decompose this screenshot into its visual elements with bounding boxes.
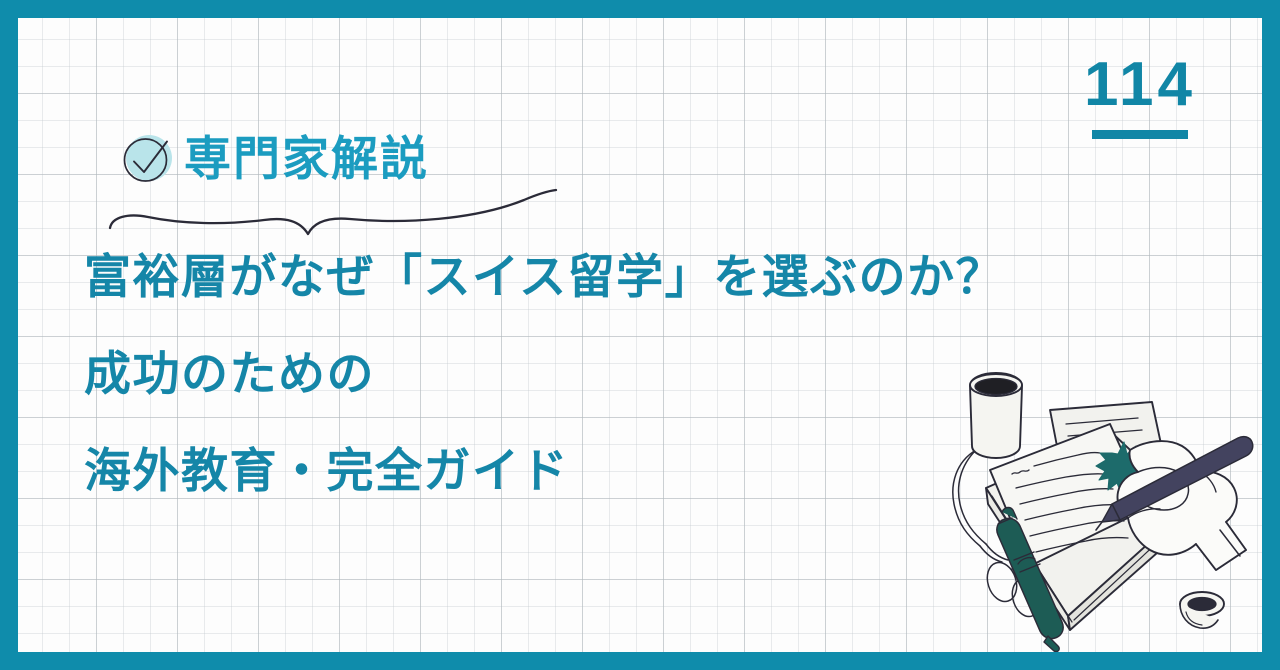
episode-number: 114 — [1080, 54, 1200, 116]
headline-line-1: 富裕層がなぜ「スイス留学」を選ぶのか？ — [84, 254, 1204, 301]
hand-writing-in-notebook-illustration — [916, 354, 1262, 652]
ring-shape — [1180, 592, 1224, 628]
thumbnail-canvas: 114 専門家解説 — [0, 0, 1280, 670]
expert-badge: 専門家解説 — [114, 126, 429, 192]
episode-number-rule — [1092, 130, 1188, 139]
badge-underline-flourish — [104, 184, 564, 254]
expert-badge-label: 専門家解説 — [184, 136, 429, 183]
check-circle-icon — [114, 126, 180, 192]
grid-paper-background: 114 専門家解説 — [18, 18, 1262, 652]
episode-number-block: 114 — [1080, 54, 1200, 139]
coffee-cup-shape — [970, 373, 1022, 458]
